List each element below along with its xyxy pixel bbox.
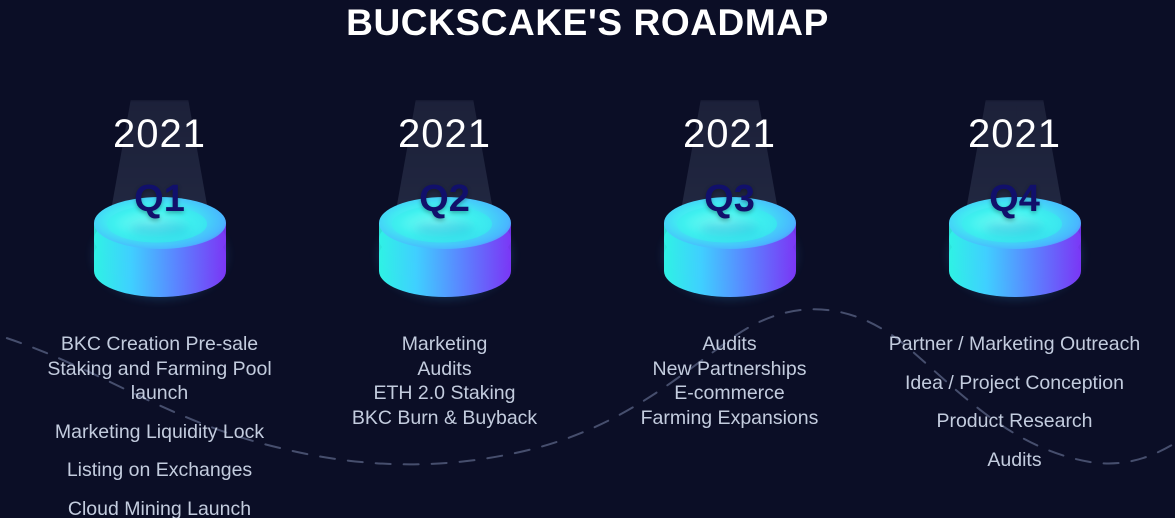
- quarter-label: Q4: [872, 178, 1157, 221]
- page-title: BUCKSCAKE'S ROADMAP: [0, 2, 1175, 44]
- milestone-item: Listing on Exchanges: [17, 458, 302, 483]
- year-label: 2021: [587, 112, 872, 157]
- group-spacer: [872, 395, 1157, 409]
- milestone-item: Cloud Mining Launch: [17, 497, 302, 518]
- milestone-list-q1: BKC Creation Pre-saleStaking and Farming…: [17, 332, 302, 518]
- milestone-item: Partner / Marketing Outreach: [872, 332, 1157, 357]
- milestone-group: Partner / Marketing Outreach: [872, 332, 1157, 357]
- milestone-list-q3: AuditsNew PartnershipsE-commerceFarming …: [587, 332, 872, 430]
- group-spacer: [872, 434, 1157, 448]
- roadmap-column-q3: 2021: [587, 100, 872, 305]
- group-spacer: [17, 406, 302, 420]
- milestone-item: New Partnerships: [587, 357, 872, 382]
- milestone-item: Idea / Project Conception: [872, 371, 1157, 396]
- milestone-item: Audits: [587, 332, 872, 357]
- group-spacer: [872, 357, 1157, 371]
- group-spacer: [17, 444, 302, 458]
- column-header-q1: 2021: [17, 100, 302, 305]
- milestone-list-q4: Partner / Marketing OutreachIdea / Proje…: [872, 332, 1157, 472]
- milestone-item: ETH 2.0 Staking: [302, 381, 587, 406]
- milestone-item: Staking and Farming Pool launch: [17, 357, 302, 406]
- milestone-group: Cloud Mining Launch: [17, 497, 302, 518]
- milestone-item: Audits: [302, 357, 587, 382]
- milestone-item: BKC Creation Pre-sale: [17, 332, 302, 357]
- column-header-q2: 2021: [302, 100, 587, 305]
- milestone-group: Product Research: [872, 409, 1157, 434]
- group-spacer: [17, 483, 302, 497]
- milestone-item: BKC Burn & Buyback: [302, 406, 587, 431]
- quarter-label: Q3: [587, 178, 872, 221]
- milestone-list-q2: MarketingAuditsETH 2.0 StakingBKC Burn &…: [302, 332, 587, 430]
- milestone-group: Audits: [872, 448, 1157, 473]
- year-label: 2021: [302, 112, 587, 157]
- roadmap-column-q1: 2021: [17, 100, 302, 305]
- milestone-item: Marketing: [302, 332, 587, 357]
- roadmap-column-q2: 2021: [302, 100, 587, 305]
- milestone-item: Audits: [872, 448, 1157, 473]
- milestone-group: Marketing Liquidity Lock: [17, 420, 302, 445]
- milestone-item: Product Research: [872, 409, 1157, 434]
- year-label: 2021: [17, 112, 302, 157]
- column-header-q4: 2021: [872, 100, 1157, 305]
- milestone-group: Listing on Exchanges: [17, 458, 302, 483]
- year-label: 2021: [872, 112, 1157, 157]
- milestone-item: Marketing Liquidity Lock: [17, 420, 302, 445]
- milestone-group: MarketingAuditsETH 2.0 StakingBKC Burn &…: [302, 332, 587, 430]
- milestone-group: Idea / Project Conception: [872, 371, 1157, 396]
- milestone-group: AuditsNew PartnershipsE-commerceFarming …: [587, 332, 872, 430]
- roadmap-column-q4: 2021: [872, 100, 1157, 305]
- milestone-item: E-commerce: [587, 381, 872, 406]
- quarter-label: Q2: [302, 178, 587, 221]
- milestone-group: BKC Creation Pre-saleStaking and Farming…: [17, 332, 302, 406]
- column-header-q3: 2021: [587, 100, 872, 305]
- quarter-label: Q1: [17, 178, 302, 221]
- roadmap-page: BUCKSCAKE'S ROADMAP 2021: [0, 0, 1175, 518]
- milestone-item: Farming Expansions: [587, 406, 872, 431]
